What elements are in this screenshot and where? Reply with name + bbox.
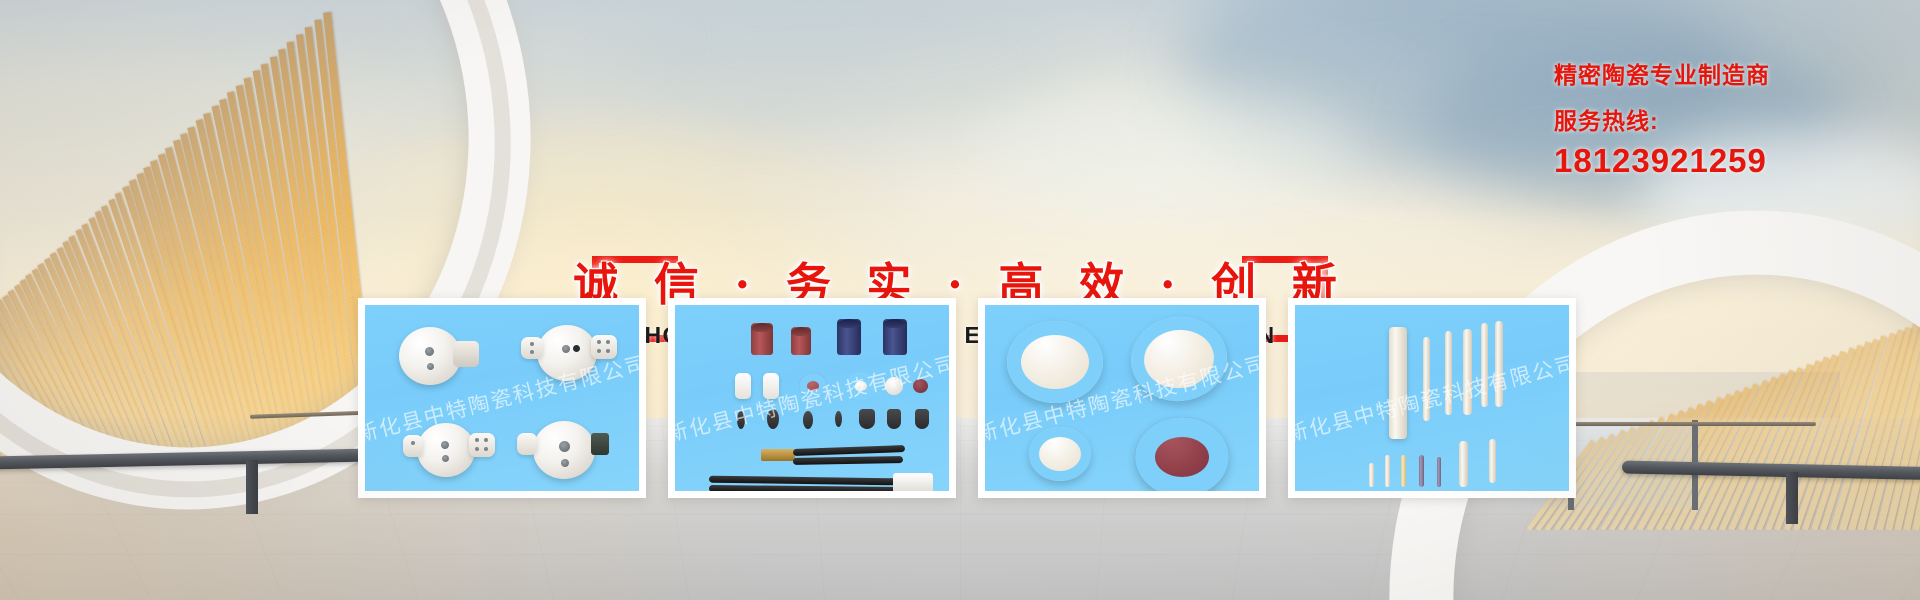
company-tagline: 精密陶瓷专业制造商 [1554,60,1894,90]
black-cable [793,456,903,465]
ceramic-lamp-holder [537,325,597,381]
contact-block: 精密陶瓷专业制造商 服务热线: 18123921259 [1554,60,1894,182]
holder-wing [591,335,617,359]
ceramic-ring-large [1007,321,1103,403]
metal-clip [803,411,813,429]
ceramic-plate [763,373,779,399]
holder-wing [403,435,423,457]
ceramic-plate [735,373,751,399]
ceramic-rod [1423,337,1430,421]
holder-wing [469,433,495,457]
ceramic-disc-red [913,379,928,393]
product-panel-3[interactable]: 新化县中特陶瓷科技有限公司 [978,298,1266,498]
metal-clip [915,409,929,429]
right-handrail-post [1786,472,1798,524]
product-panel-2[interactable]: 新化县中特陶瓷科技有限公司 [668,298,956,498]
ceramic-rod [1495,321,1503,407]
ceramic-rod [1445,331,1452,415]
white-connector [893,473,933,491]
left-handrail-post [246,460,258,514]
ceramic-disc-white [885,377,903,395]
black-cable [709,476,899,486]
ceramic-lamp-holder [533,421,595,479]
ceramic-pin [1401,455,1406,487]
ceramic-pin [1489,439,1496,483]
ceramic-tube-red [791,327,811,355]
ceramic-ring-red [1135,417,1229,491]
ceramic-ring-large [1127,312,1231,406]
product-panel-4[interactable]: 新化县中特陶瓷科技有限公司 [1288,298,1576,498]
ceramic-ring-red [799,373,827,399]
ceramic-pin [1369,463,1374,487]
ceramic-rod [1463,329,1472,415]
slogan-english: HONESTY · PRAGMATIC · EFFICIENT · INNOVA… [0,322,1920,349]
metal-clip [835,411,842,427]
ceramic-ring-small [1029,427,1091,481]
holder-terminal [591,433,609,455]
ceramic-pin [1419,455,1424,487]
panel-watermark: 新化县中特陶瓷科技有限公司 [1295,347,1569,448]
ceramic-rod [1389,327,1407,439]
product-panel-1[interactable]: 新化县中特陶瓷科技有限公司 [358,298,646,498]
holder-body [453,341,479,367]
metal-clip [859,409,875,429]
ceramic-tube-blue [837,319,861,355]
holder-wing [517,433,537,455]
slogan-chinese: 诚 信 · 务 实 · 高 效 · 创 新 [0,248,1920,313]
black-cable [793,445,905,456]
ceramic-tube-red [751,323,773,355]
metal-clip [737,411,745,429]
ceramic-rod [1481,323,1488,407]
ceramic-lamp-holder [417,423,475,477]
metal-clip [887,409,901,429]
black-cable [709,485,899,491]
ceramic-pin [1385,455,1390,487]
hotline-number[interactable]: 18123921259 [1554,140,1894,182]
ceramic-pin [1437,457,1441,487]
banner-stage: 诚 信 · 务 实 · 高 效 · 创 新 HONESTY · PRAGMATI… [0,0,1920,600]
ceramic-pin [1459,441,1468,487]
holder-wing [521,337,543,359]
hotline-label: 服务热线: [1554,106,1894,136]
metal-clip [767,409,779,429]
brass-terminal [761,449,795,461]
ceramic-tube-blue [883,319,907,355]
ceramic-lamp-holder [399,327,461,385]
ceramic-ring-white [847,373,875,399]
floor-grout-line [960,418,961,600]
